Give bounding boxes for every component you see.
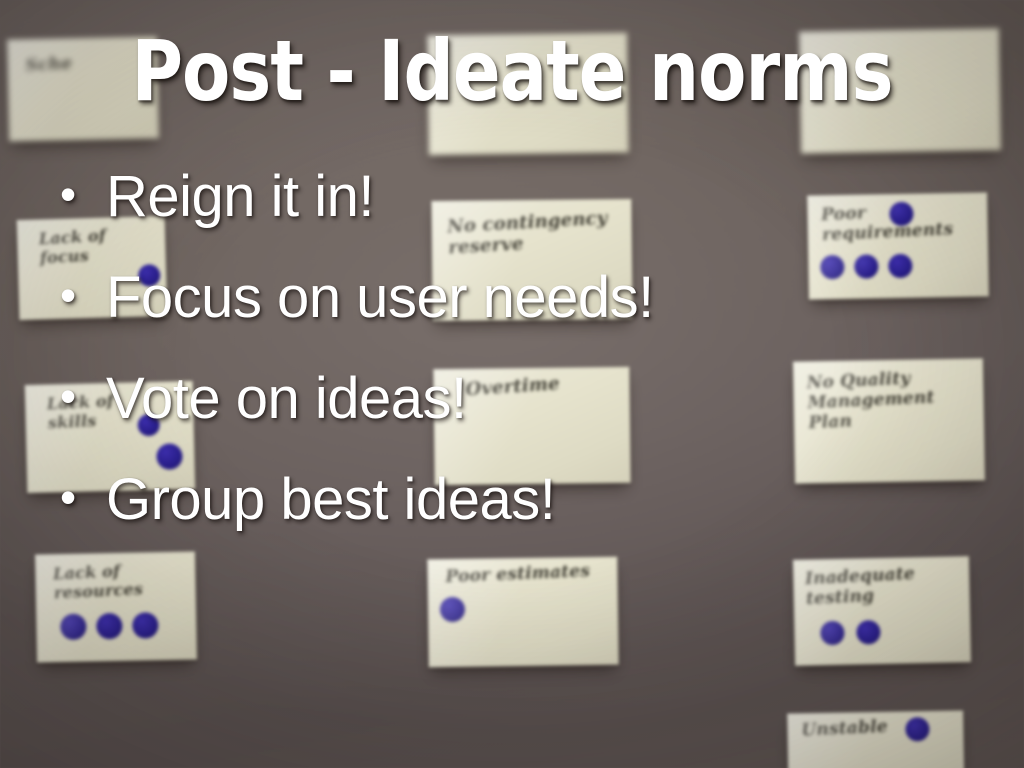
bullet-text: Reign it in!	[106, 168, 374, 226]
presentation-slide: Sche Lack of focus No contingency reserv…	[0, 0, 1024, 768]
bullet-text: Focus on user needs!	[106, 269, 654, 327]
slide-text-overlay: Post - Ideate norms • Reign it in! • Foc…	[0, 0, 1024, 768]
bullet-marker-icon: •	[60, 370, 106, 423]
bullet-marker-icon: •	[60, 269, 106, 322]
bullet-item-2: • Focus on user needs!	[60, 269, 960, 327]
bullet-item-3: • Vote on ideas!	[60, 370, 960, 428]
bullet-text: Group best ideas!	[106, 471, 555, 529]
bullet-item-4: • Group best ideas!	[60, 471, 960, 529]
slide-title: Post - Ideate norms	[36, 30, 988, 112]
bullet-item-1: • Reign it in!	[60, 168, 960, 226]
bullet-list: • Reign it in! • Focus on user needs! • …	[60, 168, 960, 572]
bullet-marker-icon: •	[60, 168, 106, 221]
bullet-marker-icon: •	[60, 471, 106, 524]
bullet-text: Vote on ideas!	[106, 370, 467, 428]
